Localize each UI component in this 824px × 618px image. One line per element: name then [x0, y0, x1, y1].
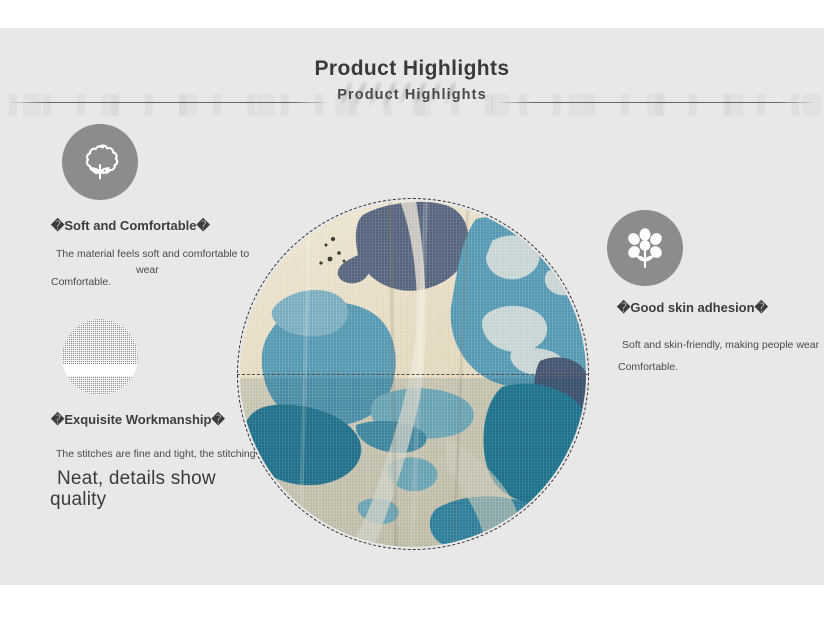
page-title: Product Highlights	[0, 57, 824, 81]
feature-line-soft-2: wear	[136, 264, 159, 276]
page-subtitle: Product Highlights	[0, 87, 824, 103]
feature-line-soft-1: The material feels soft and comfortable …	[56, 248, 249, 260]
cotton-plant-icon	[76, 138, 124, 186]
flower-icon	[622, 225, 668, 271]
product-highlights-page: Product Highlights Product Highlights	[0, 0, 824, 618]
feature-title-good-skin-adhesion: �Good skin adhesion�	[617, 300, 768, 316]
feature-line-adhesion-1: Soft and skin-friendly, making people we…	[622, 339, 819, 351]
feature-line-soft-3: Comfortable.	[51, 276, 111, 288]
feature-title-soft-and-comfortable: �Soft and Comfortable�	[51, 218, 210, 234]
page-subtitle-text: Product Highlights	[325, 87, 499, 103]
fabric-weave-icon	[62, 319, 138, 395]
feature-icon-good-skin-adhesion	[607, 210, 683, 286]
feature-icon-soft-and-comfortable	[62, 124, 138, 200]
feature-title-exquisite-workmanship: �Exquisite Workmanship�	[51, 412, 225, 428]
feature-emphasis-workmanship-1: Neat, details show	[57, 468, 216, 490]
fabric-weave-band	[62, 364, 138, 376]
feature-line-adhesion-2: Comfortable.	[618, 361, 678, 373]
feature-icon-exquisite-workmanship	[62, 319, 138, 395]
page-header: Product Highlights Product Highlights	[0, 28, 824, 120]
horizontal-dashed-divider	[237, 374, 589, 375]
feature-emphasis-workmanship-2: quality	[50, 489, 106, 511]
feature-line-workmanship-1: The stitches are fine and tight, the sti…	[56, 448, 256, 460]
